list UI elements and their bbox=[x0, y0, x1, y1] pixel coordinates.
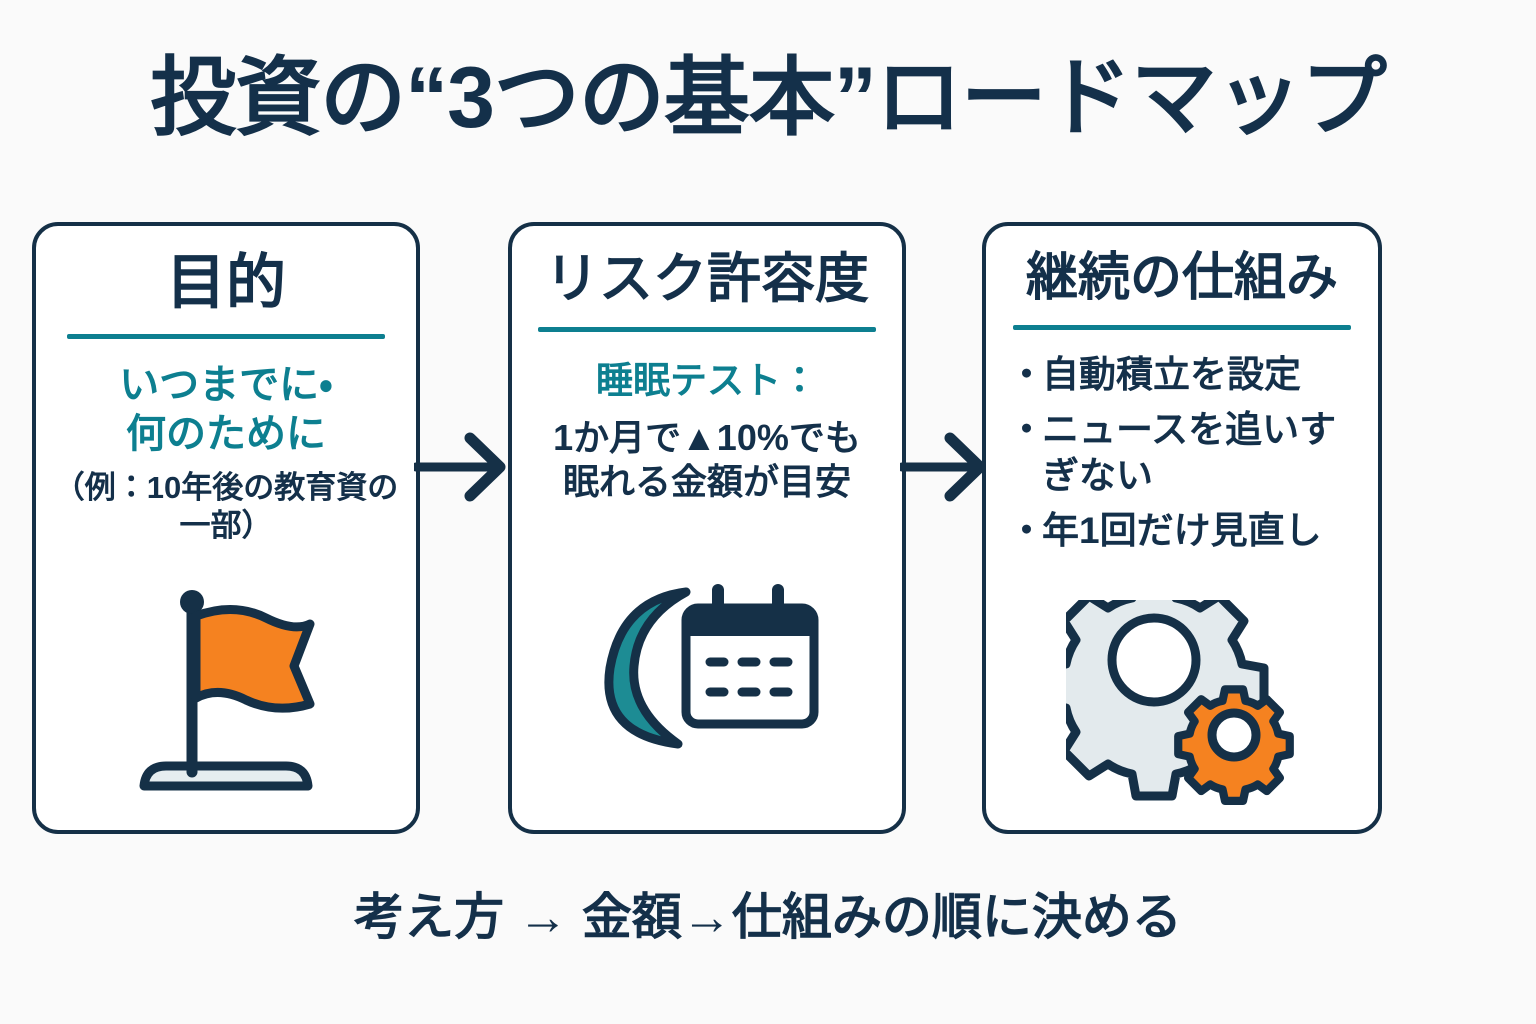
gears-icon bbox=[1066, 600, 1298, 812]
card-risk-tolerance-lead: 睡眠テスト： bbox=[512, 358, 902, 403]
card-continuity-system: 継続の仕組み 自動積立を設定 ニュースを追いすぎない 年1回だけ見直し bbox=[982, 222, 1382, 834]
card-continuity-system-heading: 継続の仕組み bbox=[986, 250, 1378, 307]
moon-calendar-icon bbox=[582, 582, 832, 754]
card-risk-tolerance: リスク許容度 睡眠テスト： 1か月で▲10%でも 眠れる金額が目安 bbox=[508, 222, 906, 834]
card-risk-tolerance-divider bbox=[538, 327, 876, 332]
gears-icon-area bbox=[986, 597, 1378, 812]
footer-caption: 考え方 → 金額→仕組みの順に決める bbox=[0, 877, 1536, 949]
card-risk-tolerance-heading: リスク許容度 bbox=[512, 250, 902, 309]
flag-icon bbox=[126, 580, 326, 802]
card-purpose-heading: 目的 bbox=[36, 250, 416, 316]
card-continuity-system-divider bbox=[1013, 325, 1351, 330]
arrow-step-2-to-3 bbox=[900, 430, 992, 504]
card-purpose: 目的 いつまでに・ 何のために （例：10年後の教育資の 一部） bbox=[32, 222, 420, 834]
flag-icon-area bbox=[36, 572, 416, 802]
list-item: 自動積立を設定 bbox=[1012, 352, 1368, 399]
card-purpose-lead: いつまでに・ 何のために bbox=[36, 361, 416, 459]
moon-calendar-icon-area bbox=[512, 564, 902, 754]
list-item: ニュースを追いすぎない bbox=[1012, 407, 1368, 500]
infographic-canvas: 投資の“3つの基本”ロードマップ 目的 いつまでに・ 何のために （例：10年後… bbox=[0, 0, 1536, 1024]
page-title: 投資の“3つの基本”ロードマップ bbox=[0, 52, 1536, 145]
card-purpose-divider bbox=[67, 334, 385, 339]
card-risk-tolerance-note: 1か月で▲10%でも 眠れる金額が目安 bbox=[512, 416, 902, 505]
card-purpose-note: （例：10年後の教育資の 一部） bbox=[36, 469, 416, 546]
arrow-step-1-to-2 bbox=[414, 430, 514, 504]
list-item: 年1回だけ見直し bbox=[1012, 508, 1368, 555]
card-continuity-system-bullets: 自動積立を設定 ニュースを追いすぎない 年1回だけ見直し bbox=[986, 352, 1378, 554]
